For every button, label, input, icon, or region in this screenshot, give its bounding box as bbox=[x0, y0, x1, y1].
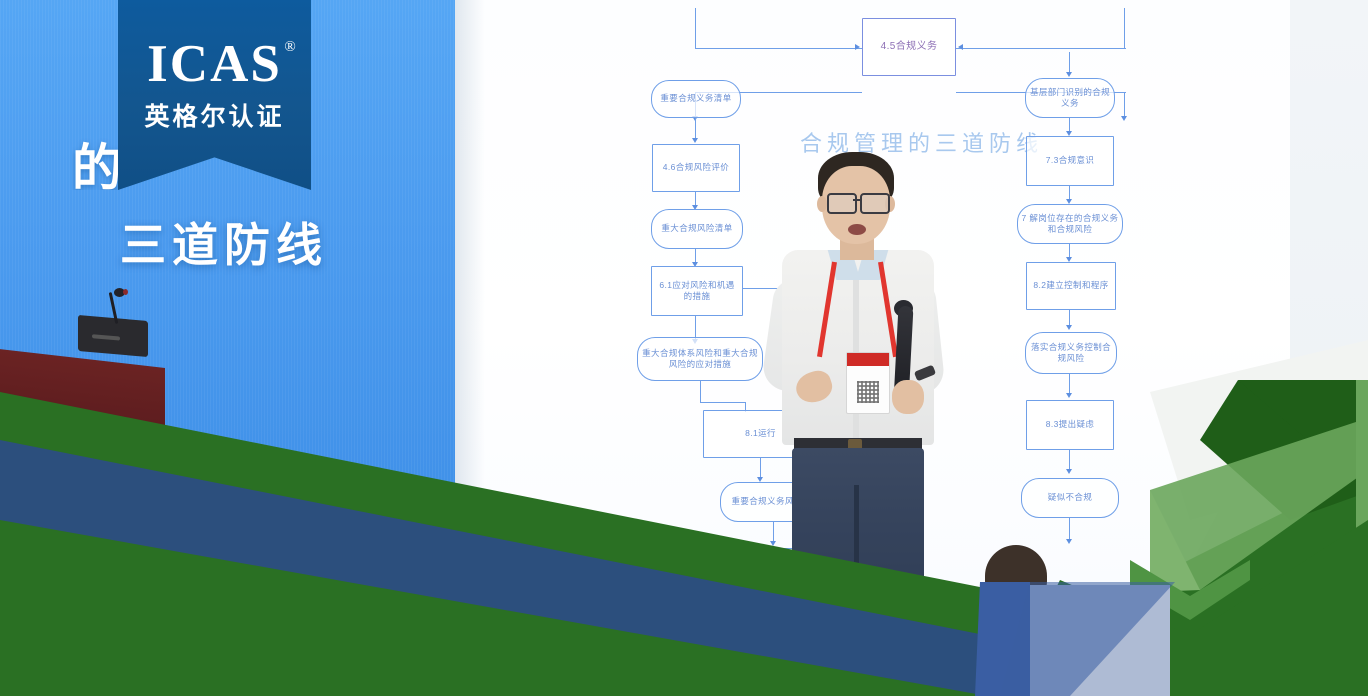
screenshot-canvas: 的 三道防线 ICAS ® 英格尔认证 合规管理的三道防线 4.5合规义务 重要… bbox=[0, 0, 1368, 696]
geometric-overlay-graphic bbox=[0, 0, 1368, 696]
